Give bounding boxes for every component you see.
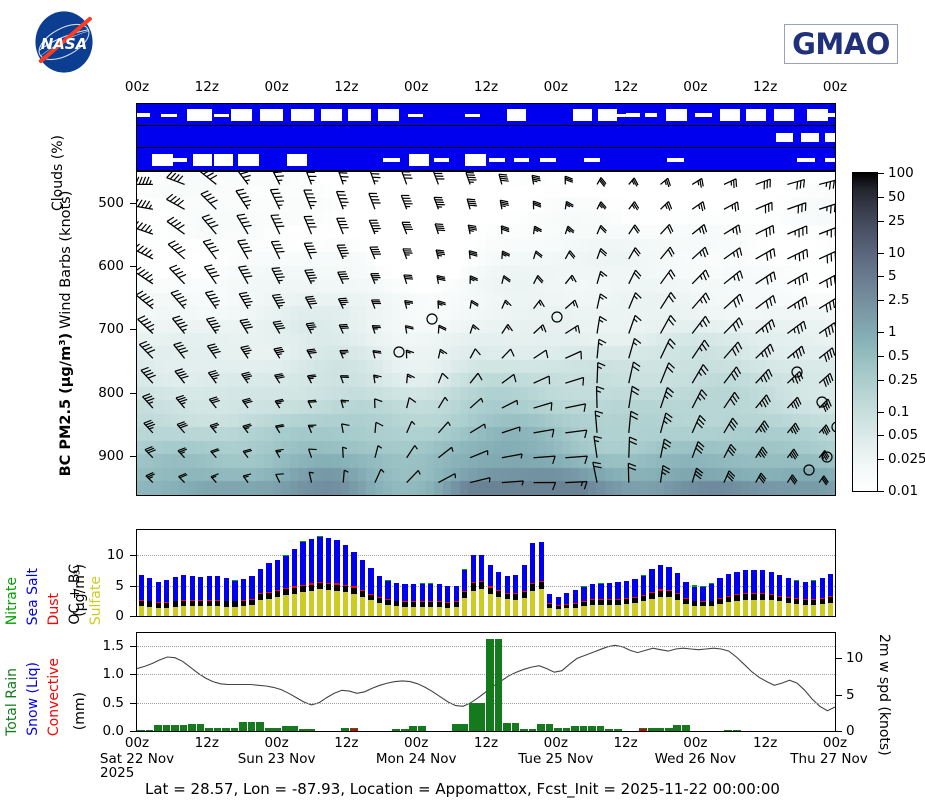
aerosol-segment-seasalt: [215, 576, 220, 600]
aerosol-segment-ocbc: [530, 584, 535, 591]
cloud-gap: [231, 109, 252, 121]
cloud-gap: [825, 113, 835, 117]
aerosol-bar: [207, 576, 212, 616]
precip-rain-bar: [469, 703, 477, 731]
bottom-time-tick: 00z: [683, 735, 707, 751]
aerosol-bar: [675, 573, 680, 616]
aerosol-segment-seasalt: [581, 587, 586, 602]
aerosol-segment-sulfate: [275, 597, 280, 616]
precip-rain-bar: [205, 728, 213, 731]
precip-rain-bar: [614, 729, 622, 731]
colorbar-tick-label: 100: [888, 165, 914, 181]
aerosol-segment-sulfate: [326, 590, 331, 616]
aerosol-bar: [820, 578, 825, 616]
aerosol-segment-seasalt: [675, 573, 680, 593]
aerosol-bar: [530, 543, 535, 616]
aerosol-segment-seasalt: [266, 563, 271, 592]
aerosol-segment-seasalt: [820, 578, 825, 598]
aerosol-segment-sulfate: [607, 605, 612, 617]
precip-rain-bar: [401, 729, 409, 731]
wind-speed-tick: [836, 731, 842, 732]
top-time-tick: 00z: [683, 79, 707, 95]
aerosol-bar: [717, 578, 722, 616]
aerosol-bar: [811, 580, 816, 616]
aerosol-segment-sulfate: [615, 605, 620, 617]
aerosol-bar: [173, 577, 178, 616]
aerosol-bar: [351, 552, 356, 616]
aerosol-segment-sulfate: [675, 600, 680, 616]
aerosol-segment-sulfate: [224, 607, 229, 616]
aerosol-segment-seasalt: [454, 586, 459, 601]
cloud-gap: [465, 154, 486, 166]
precip-rain-bar: [724, 730, 732, 731]
aerosol-segment-seasalt: [385, 581, 390, 600]
aerosol-segment-sulfate: [164, 608, 169, 616]
precip-right-axis: 0510: [840, 632, 870, 732]
colorbar-tick-label: 2.5: [888, 292, 909, 308]
precip-rain-bar: [409, 726, 417, 731]
main-y-tick-label: 500: [98, 195, 124, 211]
precip-rain-bar: [392, 729, 400, 731]
cloud-gap: [214, 114, 229, 117]
aerosol-segment-sulfate: [437, 607, 442, 616]
aerosol-bar: [803, 582, 808, 616]
cloud-gap: [214, 154, 234, 166]
cloud-gap: [161, 114, 176, 117]
precip-y-tick-label: 1.0: [103, 666, 124, 682]
cloud-gap: [408, 114, 423, 117]
aerosol-segment-sulfate: [811, 605, 816, 617]
aerosol-bar-panel[interactable]: [136, 529, 836, 617]
colorbar-tick-label: 0.1: [888, 404, 909, 420]
aerosol-bar: [411, 584, 416, 616]
cloud-gap: [137, 113, 150, 117]
aerosol-bar: [317, 536, 322, 616]
colorbar-tick: [878, 380, 884, 381]
aerosol-bar: [139, 575, 144, 616]
aerosol-bar: [794, 580, 799, 616]
aerosol-legend-item: Sea Salt: [25, 568, 41, 625]
precip-rain-bar: [452, 724, 460, 731]
aerosol-bar: [147, 578, 152, 616]
cloud-gap: [667, 158, 684, 162]
aerosol-segment-seasalt: [573, 590, 578, 603]
aerosol-segment-sulfate: [786, 603, 791, 616]
aerosol-segment-seasalt: [777, 575, 782, 596]
aerosol-segment-sulfate: [709, 606, 714, 616]
precip-rain-bar: [529, 729, 537, 731]
aerosol-segment-seasalt: [683, 582, 688, 598]
colorbar-tick-label: 0.5: [888, 348, 909, 364]
colorbar-tick-label: 0.05: [888, 427, 918, 443]
colorbar-tick-label: 10: [888, 245, 905, 261]
aerosol-gridline: [137, 555, 835, 556]
aerosol-unit-text: (µg/m³): [72, 564, 88, 617]
wind-speed-tick-label: 5: [846, 687, 855, 703]
aerosol-bar: [828, 574, 833, 616]
bottom-time-tick: 12z: [753, 735, 777, 751]
colorbar-tick: [878, 435, 884, 436]
aerosol-unit-label: (µg/m³): [72, 529, 94, 617]
aerosol-segment-seasalt: [309, 539, 314, 583]
aerosol-segment-seasalt: [471, 555, 476, 582]
cloud-gap: [825, 133, 835, 142]
precip-rain-bar: [520, 729, 528, 731]
aerosol-segment-sulfate: [803, 605, 808, 617]
aerosol-segment-sulfate: [624, 604, 629, 616]
precip-rain-bar: [554, 728, 562, 731]
precip-unit-text: (mm): [72, 692, 88, 730]
bottom-time-tick: 00z: [404, 735, 428, 751]
aerosol-bar: [394, 583, 399, 616]
aerosol-bar: [190, 576, 195, 616]
aerosol-segment-seasalt: [258, 569, 263, 593]
aerosol-bar: [556, 597, 561, 616]
aerosol-bar: [598, 583, 603, 616]
aerosol-segment-seasalt: [513, 575, 518, 593]
aerosol-bar: [632, 579, 637, 616]
aerosol-segment-sulfate: [334, 591, 339, 616]
aerosol-segment-seasalt: [649, 569, 654, 592]
aerosol-segment-sulfate: [351, 594, 356, 616]
precip-legend-item: Convective: [46, 658, 62, 736]
aerosol-bar: [360, 560, 365, 616]
aerosol-bar: [377, 576, 382, 616]
bottom-time-tick: 00z: [125, 735, 149, 751]
aerosol-segment-sulfate: [769, 600, 774, 616]
aerosol-segment-seasalt: [173, 577, 178, 601]
aerosol-bar: [283, 555, 288, 616]
precip-rain-bar: [341, 728, 349, 731]
bottom-day-label: Sun 23 Nov: [238, 751, 316, 767]
main-contour-panel[interactable]: [136, 171, 836, 496]
aerosol-bar: [343, 545, 348, 616]
precip-rain-bar: [231, 728, 239, 731]
aerosol-bar: [496, 572, 501, 616]
aerosol-segment-seasalt: [811, 581, 816, 599]
aerosol-bar: [786, 578, 791, 616]
aerosol-bar: [249, 576, 254, 616]
aerosol-segment-seasalt: [641, 576, 646, 595]
aerosol-segment-seasalt: [368, 568, 373, 593]
aerosol-segment-sulfate: [530, 591, 535, 616]
cloud-gap: [507, 109, 527, 121]
bottom-day-label: Mon 24 Nov: [376, 751, 457, 767]
aerosol-segment-seasalt: [794, 581, 799, 599]
top-time-tick: 12z: [334, 79, 358, 95]
top-time-tick: 12z: [753, 79, 777, 95]
aerosol-segment-sulfate: [743, 600, 748, 616]
aerosol-segment-seasalt: [156, 582, 161, 601]
aerosol-segment-seasalt: [479, 555, 484, 581]
aerosol-segment-sulfate: [777, 601, 782, 616]
footer-caption: Lat = 28.57, Lon = -87.93, Location = Ap…: [0, 780, 925, 798]
aerosol-segment-seasalt: [709, 584, 714, 601]
aerosol-bar: [164, 580, 169, 616]
aerosol-segment-seasalt: [522, 565, 527, 590]
aerosol-bar: [751, 570, 756, 616]
top-time-tick: 12z: [474, 79, 498, 95]
aerosol-segment-seasalt: [139, 575, 144, 600]
aerosol-segment-seasalt: [360, 560, 365, 590]
aerosol-segment-seasalt: [224, 578, 229, 600]
aerosol-segment-seasalt: [658, 565, 663, 589]
aerosol-segment-ocbc: [479, 582, 484, 589]
precip-rain-bar: [477, 703, 485, 731]
precip-rain-bar: [239, 722, 247, 731]
aerosol-bar: [666, 567, 671, 616]
aerosol-bar: [445, 586, 450, 616]
precip-y-tick-label: 0.0: [103, 723, 124, 739]
nasa-logo: NASA: [30, 8, 98, 76]
cloud-gap: [287, 154, 307, 166]
precip-panel[interactable]: [136, 632, 836, 732]
aerosol-bar: [513, 575, 518, 616]
aerosol-segment-seasalt: [726, 574, 731, 596]
aerosol-bar: [454, 586, 459, 616]
cloud-gap: [321, 109, 342, 121]
aerosol-segment-sulfate: [505, 599, 510, 616]
cloud-gap: [776, 133, 793, 142]
aerosol-bar: [607, 583, 612, 616]
aerosol-segment-sulfate: [411, 607, 416, 616]
precip-rain-bar: [588, 726, 596, 731]
aerosol-segment-sulfate: [513, 600, 518, 616]
main-y-tick-label: 600: [98, 258, 124, 274]
precip-rain-bar: [154, 725, 162, 731]
aerosol-bar: [334, 540, 339, 616]
aerosol-segment-sulfate: [479, 589, 484, 616]
cloud-gap: [666, 109, 687, 121]
aerosol-bar: [300, 541, 305, 616]
aerosol-segment-sulfate: [692, 606, 697, 616]
aerosol-segment-seasalt: [496, 572, 501, 590]
aerosol-bar: [505, 576, 510, 616]
precip-rain-bar: [605, 729, 613, 731]
aerosol-segment-sulfate: [360, 597, 365, 616]
aerosol-segment-sulfate: [564, 608, 569, 616]
precip-rain-bar: [460, 724, 468, 731]
aerosol-segment-sulfate: [471, 591, 476, 616]
main-y-tick-label: 800: [98, 385, 124, 401]
aerosol-segment-seasalt: [828, 574, 833, 596]
precip-rain-bar: [273, 728, 281, 731]
precip-rain-bar: [265, 728, 273, 731]
cloud-gap: [465, 114, 480, 117]
colorbar-tick-label: 0.01: [888, 483, 918, 499]
aerosol-segment-sulfate: [139, 606, 144, 616]
bottom-time-tick: 00z: [264, 735, 288, 751]
aerosol-bar: [471, 555, 476, 616]
aerosol-segment-sulfate: [573, 608, 578, 616]
year-label: 2025: [100, 765, 134, 781]
cloud-gap: [801, 133, 818, 142]
aerosol-segment-sulfate: [700, 606, 705, 616]
aerosol-segment-sulfate: [215, 606, 220, 616]
aerosol-segment-seasalt: [598, 584, 603, 599]
aerosol-segment-sulfate: [751, 600, 756, 616]
cloud-gap: [695, 113, 712, 117]
aerosol-segment-sulfate: [147, 607, 152, 616]
aerosol-bar: [692, 585, 697, 616]
aerosol-segment-seasalt: [803, 582, 808, 599]
aerosol-segment-seasalt: [539, 542, 544, 581]
cloud-gap: [514, 158, 529, 162]
precip-rain-bar: [197, 724, 205, 731]
precip-rain-bar: [248, 722, 256, 731]
aerosol-bar: [420, 583, 425, 616]
aerosol-segment-sulfate: [181, 606, 186, 616]
aerosol-segment-seasalt: [666, 567, 671, 590]
aerosol-segment-sulfate: [445, 608, 450, 616]
precip-rain-bar: [571, 726, 579, 731]
precip-rain-bar: [299, 729, 307, 731]
aerosol-segment-sulfate: [666, 597, 671, 616]
aerosol-segment-sulfate: [266, 599, 271, 616]
main-axis-title-bc: BC PM2.5 (µg/m³): [58, 333, 74, 477]
aerosol-bar: [615, 582, 620, 616]
aerosol-segment-seasalt: [334, 540, 339, 583]
aerosol-segment-sulfate: [539, 589, 544, 616]
precip-rain-bar: [512, 723, 520, 731]
aerosol-bar: [590, 584, 595, 616]
aerosol-segment-ocbc: [539, 582, 544, 589]
aerosol-y-tick-label: 5: [115, 578, 124, 594]
wind-speed-axis-label: 2m w spd (knots): [876, 632, 900, 732]
aerosol-bar: [658, 565, 663, 616]
precip-rain-bar: [503, 723, 511, 731]
precip-rain-bar: [733, 730, 741, 731]
aerosol-segment-seasalt: [505, 576, 510, 593]
precip-rain-bar: [282, 726, 290, 731]
aerosol-bar: [743, 570, 748, 616]
aerosol-bar: [402, 584, 407, 616]
aerosol-legend-item: Dust: [46, 593, 62, 625]
aerosol-segment-seasalt: [164, 580, 169, 602]
aerosol-segment-sulfate: [522, 598, 527, 616]
aerosol-segment-seasalt: [377, 576, 382, 597]
cloud-gap: [617, 114, 632, 117]
cloud-gap: [238, 154, 259, 166]
top-time-tick: 12z: [195, 79, 219, 95]
aerosol-segment-sulfate: [173, 607, 178, 616]
main-axis-title-barbs: Wind Barbs (knots): [58, 191, 74, 329]
aerosol-segment-sulfate: [368, 600, 373, 616]
cloud-gap: [746, 109, 766, 121]
aerosol-segment-sulfate: [385, 605, 390, 616]
wind-speed-axis-text: 2m w spd (knots): [876, 634, 892, 756]
aerosol-segment-seasalt: [437, 584, 442, 601]
cloud-gap: [348, 109, 370, 121]
aerosol-y-tick-label: 10: [107, 547, 124, 563]
aerosol-segment-sulfate: [488, 594, 493, 616]
wind-speed-tick: [836, 695, 842, 696]
precip-legend-item: Snow (Liq): [25, 662, 41, 736]
aerosol-segment-seasalt: [607, 583, 612, 599]
aerosol-segment-seasalt: [615, 582, 620, 598]
precip-rain-bar: [546, 724, 554, 731]
colorbar-tick: [878, 356, 884, 357]
aerosol-segment-sulfate: [683, 604, 688, 616]
precip-rain-bar: [137, 730, 145, 731]
aerosol-segment-sulfate: [241, 606, 246, 616]
aerosol-bar: [573, 590, 578, 616]
aerosol-segment-seasalt: [249, 576, 254, 599]
cloud-gap: [260, 109, 283, 121]
bottom-day-label: Thu 27 Nov: [790, 751, 867, 767]
aerosol-segment-sulfate: [641, 601, 646, 616]
aerosol-segment-seasalt: [734, 572, 739, 594]
aerosol-legend-item: Nitrate: [4, 577, 20, 625]
aerosol-segment-seasalt: [402, 584, 407, 601]
cloud-row-low: [137, 148, 835, 171]
aerosol-segment-sulfate: [317, 589, 322, 616]
cloud-gap: [409, 154, 429, 166]
aerosol-segment-sulfate: [394, 606, 399, 616]
aerosol-bar: [581, 586, 586, 616]
colorbar-tick-label: 50: [888, 189, 905, 205]
precip-rain-bar: [537, 724, 545, 731]
precip-rain-bar: [486, 639, 494, 731]
bottom-time-tick: 12z: [474, 735, 498, 751]
aerosol-segment-seasalt: [700, 587, 705, 602]
aerosol-bar: [777, 575, 782, 616]
top-time-tick: 00z: [823, 79, 847, 95]
bottom-time-tick: 00z: [823, 735, 847, 751]
precip-rain-bar: [673, 725, 681, 731]
precip-rain-bar: [171, 725, 179, 731]
precip-rain-bar: [146, 730, 154, 731]
aerosol-segment-sulfate: [454, 607, 459, 616]
aerosol-segment-seasalt: [743, 570, 748, 593]
cloud-gap: [434, 158, 449, 162]
aerosol-segment-seasalt: [760, 570, 765, 593]
aerosol-segment-sulfate: [632, 603, 637, 616]
aerosol-segment-seasalt: [232, 581, 237, 601]
precip-rain-bar: [307, 729, 315, 731]
aerosol-segment-seasalt: [547, 594, 552, 603]
cloud-gap: [383, 158, 400, 162]
aerosol-segment-seasalt: [317, 537, 322, 582]
precip-rain-bar: [290, 726, 298, 731]
wind-speed-tick-label: 0: [846, 723, 855, 739]
aerosol-segment-seasalt: [717, 578, 722, 598]
aerosol-segment-seasalt: [326, 538, 331, 583]
colorbar-tick: [878, 300, 884, 301]
clouds-panel[interactable]: [136, 103, 836, 171]
cloud-gap: [172, 158, 187, 162]
aerosol-segment-sulfate: [156, 608, 161, 616]
aerosol-segment-seasalt: [445, 586, 450, 602]
aerosol-bar: [266, 563, 271, 616]
precip-y-tick-label: 0.5: [103, 695, 124, 711]
aerosol-bar: [547, 594, 552, 616]
aerosol-bar: [564, 593, 569, 616]
aerosol-segment-sulfate: [232, 607, 237, 616]
aerosol-bar: [734, 572, 739, 616]
aerosol-segment-sulfate: [598, 605, 603, 617]
aerosol-segment-sulfate: [190, 606, 195, 616]
colorbar-tick: [878, 412, 884, 413]
top-time-tick: 12z: [613, 79, 637, 95]
cloud-gap: [152, 154, 173, 166]
aerosol-bar: [241, 579, 246, 616]
aerosol-segment-sulfate: [283, 595, 288, 616]
aerosol-segment-sulfate: [820, 604, 825, 616]
aerosol-segment-seasalt: [275, 560, 280, 590]
bottom-day-label: Wed 26 Nov: [655, 751, 737, 767]
gmao-logo-text: GMAO: [792, 27, 890, 61]
